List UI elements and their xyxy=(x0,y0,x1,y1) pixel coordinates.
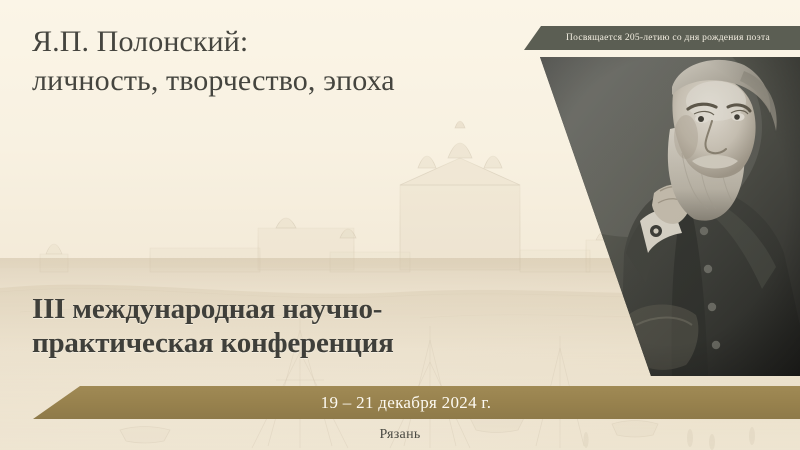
conference-line-1: III международная научно- xyxy=(32,292,522,326)
conference-poster: Я.П. Полонский: личность, творчество, эп… xyxy=(0,0,800,450)
conference-dates: 19 – 21 декабря 2024 г. xyxy=(12,393,800,413)
page-title: Я.П. Полонский: личность, творчество, эп… xyxy=(32,22,502,100)
title-line-1: Я.П. Полонский: xyxy=(32,22,502,61)
dedication-text: Посвящается 205-летию со дня рождения по… xyxy=(554,33,770,43)
conference-heading: III международная научно- практическая к… xyxy=(32,292,522,360)
title-line-2: личность, творчество, эпоха xyxy=(32,61,502,100)
conference-city: Рязань xyxy=(0,427,800,443)
conference-line-2: практическая конференция xyxy=(32,326,522,360)
dedication-ribbon: Посвящается 205-летию со дня рождения по… xyxy=(524,26,800,50)
date-band: 19 – 21 декабря 2024 г. xyxy=(0,386,800,419)
